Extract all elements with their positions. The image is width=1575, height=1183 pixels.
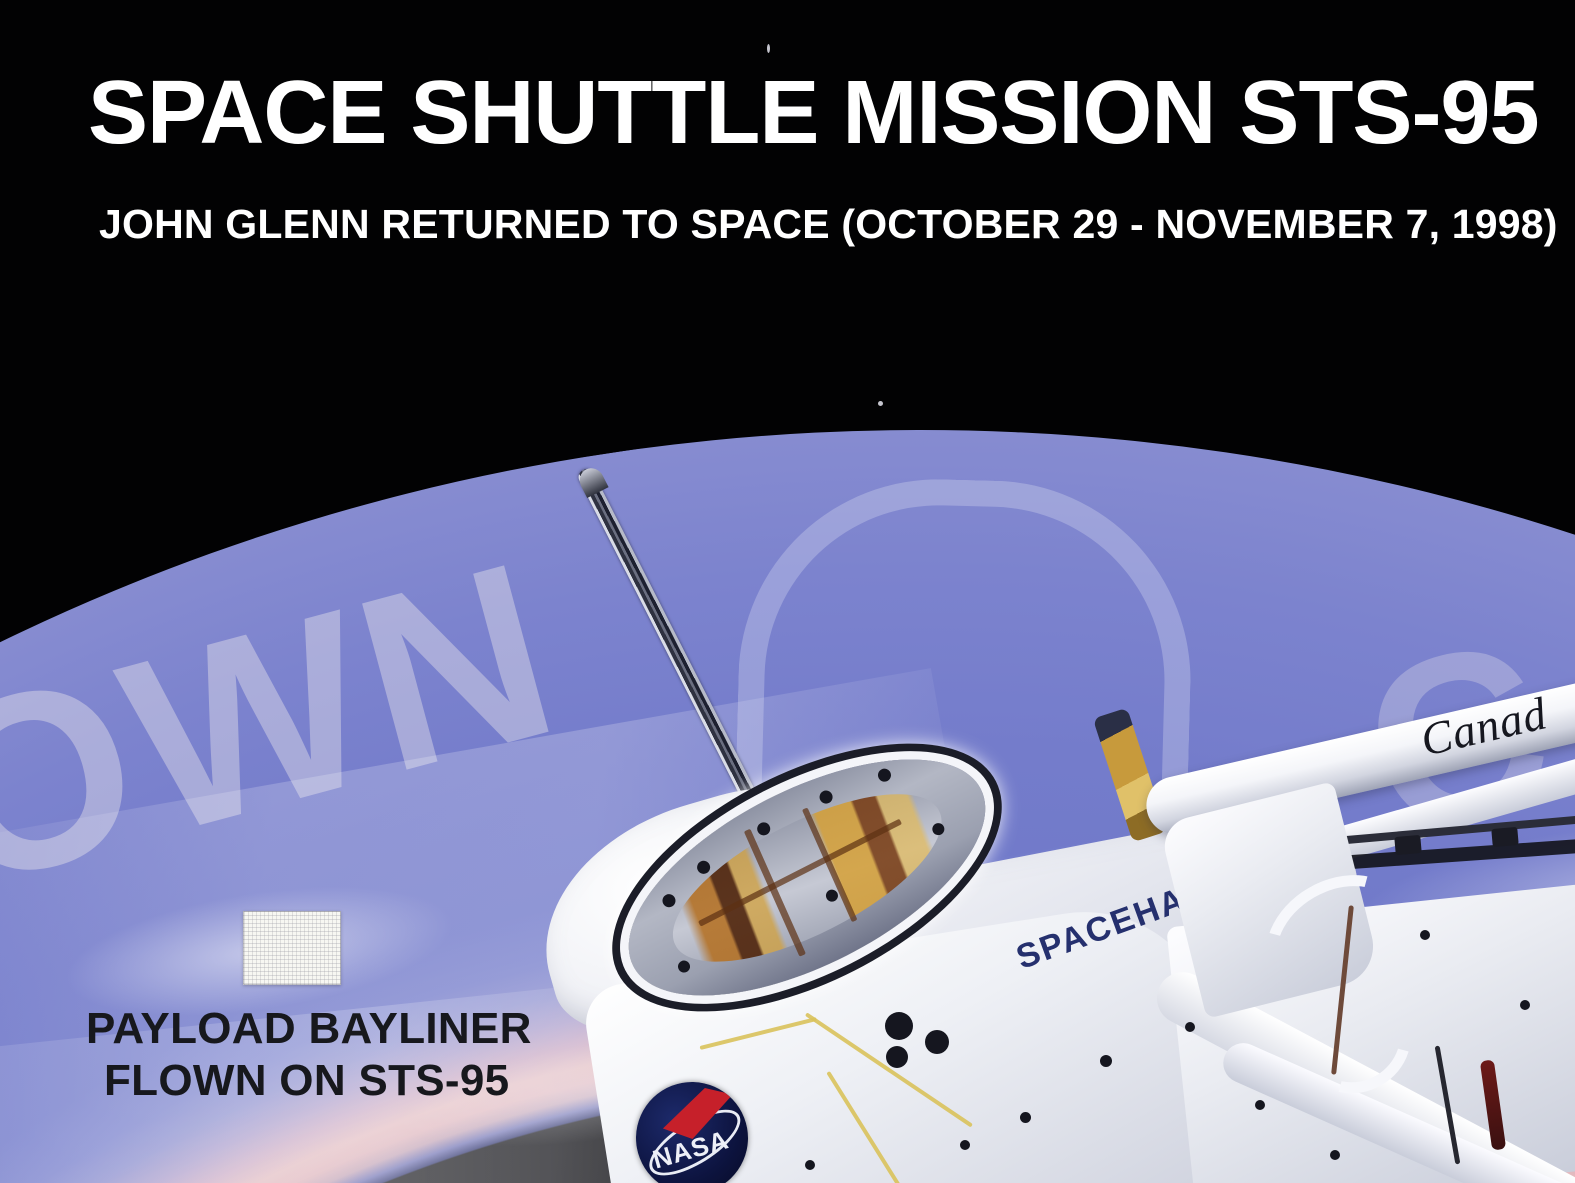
surface-fastener <box>925 1030 949 1054</box>
bay-bolt <box>676 958 692 974</box>
surface-fastener <box>886 1046 908 1068</box>
surface-fastener <box>1520 1000 1530 1010</box>
fabric-swatch <box>243 911 341 985</box>
surface-fastener <box>1020 1112 1031 1123</box>
bay-bolt <box>660 892 677 909</box>
truss-fitting <box>1491 827 1518 847</box>
page-title: SPACE SHUTTLE MISSION STS-95 <box>88 68 1539 158</box>
surface-fastener <box>1185 1022 1195 1032</box>
bay-bolt <box>695 858 712 875</box>
surface-fastener <box>1330 1150 1340 1160</box>
surface-fastener <box>1255 1100 1265 1110</box>
surface-fastener <box>1100 1055 1112 1067</box>
relic-caption: PAYLOAD BAYLINER FLOWN ON STS-95 <box>86 1003 532 1107</box>
surface-fastener <box>805 1160 815 1170</box>
surface-fastener <box>885 1012 913 1040</box>
relic-caption-line-2: FLOWN ON STS-95 <box>104 1055 532 1107</box>
relic-caption-line-1: PAYLOAD BAYLINER <box>86 1003 532 1055</box>
bay-bolt <box>876 766 893 783</box>
surface-fastener <box>960 1140 970 1150</box>
bay-bolt <box>817 788 834 805</box>
surface-fastener <box>1420 930 1430 940</box>
sts-95-commemorative-card: OWN C SPACEHAB Canad <box>0 0 1575 1183</box>
page-subtitle: JOHN GLENN RETURNED TO SPACE (OCTOBER 29… <box>99 204 1558 245</box>
truss-fitting <box>1394 835 1421 855</box>
